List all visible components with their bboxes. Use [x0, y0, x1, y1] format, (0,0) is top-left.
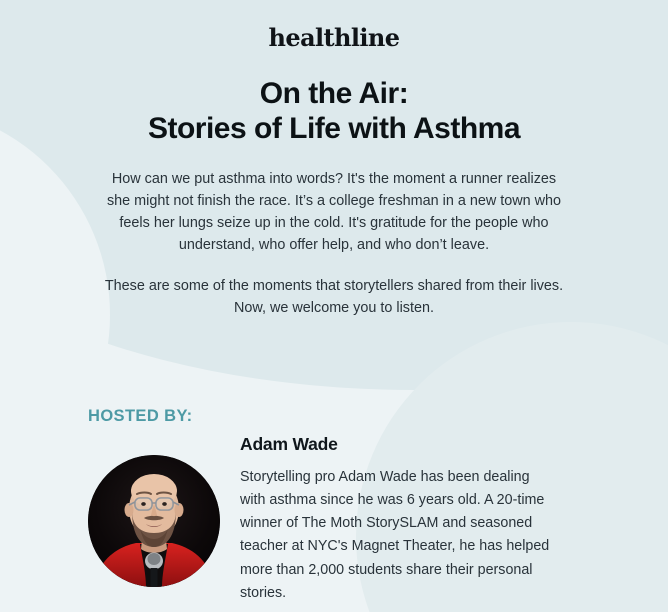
page-title: On the Air: Stories of Life with Asthma [0, 76, 668, 146]
page-title-line-1: On the Air: [0, 76, 668, 111]
healthline-logo: healthline [0, 0, 668, 50]
intro-paragraph-1: How can we put asthma into words? It's t… [99, 169, 569, 257]
host-card: Adam Wade Storytelling pro Adam Wade has… [88, 434, 556, 605]
host-details: Adam Wade Storytelling pro Adam Wade has… [240, 434, 556, 605]
avatar-photo-icon [88, 455, 220, 587]
poster-content: healthline On the Air: Stories of Life w… [0, 0, 668, 612]
intro-copy: How can we put asthma into words? It's t… [99, 169, 569, 319]
host-bio: Storytelling pro Adam Wade has been deal… [240, 466, 556, 605]
host-name: Adam Wade [240, 434, 556, 455]
avatar [88, 455, 220, 587]
poster-canvas: healthline On the Air: Stories of Life w… [0, 0, 668, 612]
intro-paragraph-2: These are some of the moments that story… [99, 276, 569, 320]
page-title-line-2: Stories of Life with Asthma [0, 111, 668, 146]
hosted-by-label: HOSTED BY: [88, 407, 193, 426]
